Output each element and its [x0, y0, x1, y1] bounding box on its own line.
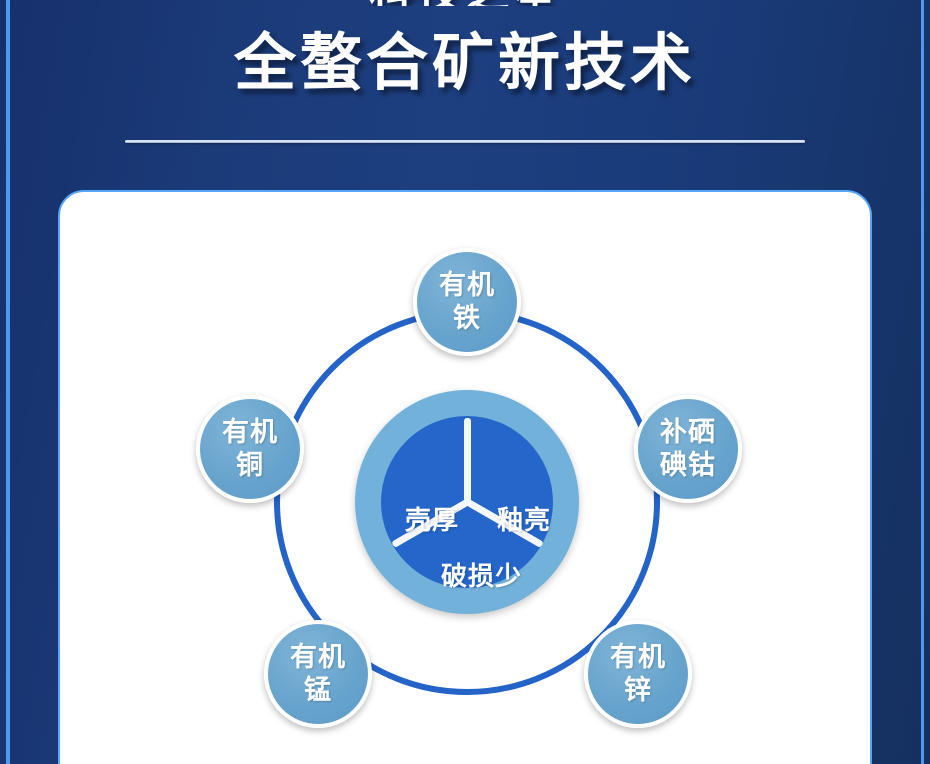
bubble-organic-iron-line1: 有机: [439, 269, 495, 302]
page-title: 全螯合矿新技术: [0, 22, 930, 106]
bubble-selenium-line1: 补硒: [660, 416, 716, 449]
bubble-selenium-line2: 碘钴: [660, 449, 716, 482]
bubble-organic-manganese-line1: 有机: [290, 641, 346, 674]
bubble-organic-iron[interactable]: 有机 铁: [413, 248, 521, 356]
poster-page: 科技之星 全螯合矿新技术 壳厚 釉亮 破损少: [0, 0, 930, 764]
center-segment-label-shell-thickness: 壳厚: [405, 500, 459, 537]
bubble-selenium-iodine-cobalt[interactable]: 补硒 碘钴: [634, 395, 742, 503]
bubble-organic-manganese[interactable]: 有机 锰: [264, 620, 372, 728]
bubble-organic-copper-line2: 铜: [236, 449, 264, 482]
bubble-organic-manganese-line2: 锰: [304, 674, 332, 707]
bubble-organic-iron-line2: 铁: [453, 302, 481, 335]
bubble-organic-copper-line1: 有机: [222, 416, 278, 449]
center-hub-inner-pie: 壳厚 釉亮 破损少: [381, 416, 553, 588]
content-card: 壳厚 釉亮 破损少 有机 铁 补硒 碘钴 有机 锌 有机 锰: [58, 190, 872, 764]
center-segment-label-glaze-bright: 釉亮: [497, 500, 551, 537]
bubble-organic-zinc-line2: 锌: [624, 674, 652, 707]
center-hub: 壳厚 釉亮 破损少: [355, 390, 579, 614]
bubble-organic-copper[interactable]: 有机 铜: [196, 395, 304, 503]
center-segment-label-low-breakage: 破损少: [441, 556, 522, 593]
title-subheading-clipped: 科技之星: [0, 0, 930, 6]
pie-spoke-up: [464, 418, 471, 502]
header-divider: [125, 140, 805, 143]
poster-header: 科技之星 全螯合矿新技术: [0, 0, 930, 175]
mineral-hub-diagram: 壳厚 釉亮 破损少 有机 铁 补硒 碘钴 有机 锌 有机 锰: [60, 192, 872, 764]
bubble-organic-zinc-line1: 有机: [610, 641, 666, 674]
bubble-organic-zinc[interactable]: 有机 锌: [584, 620, 692, 728]
